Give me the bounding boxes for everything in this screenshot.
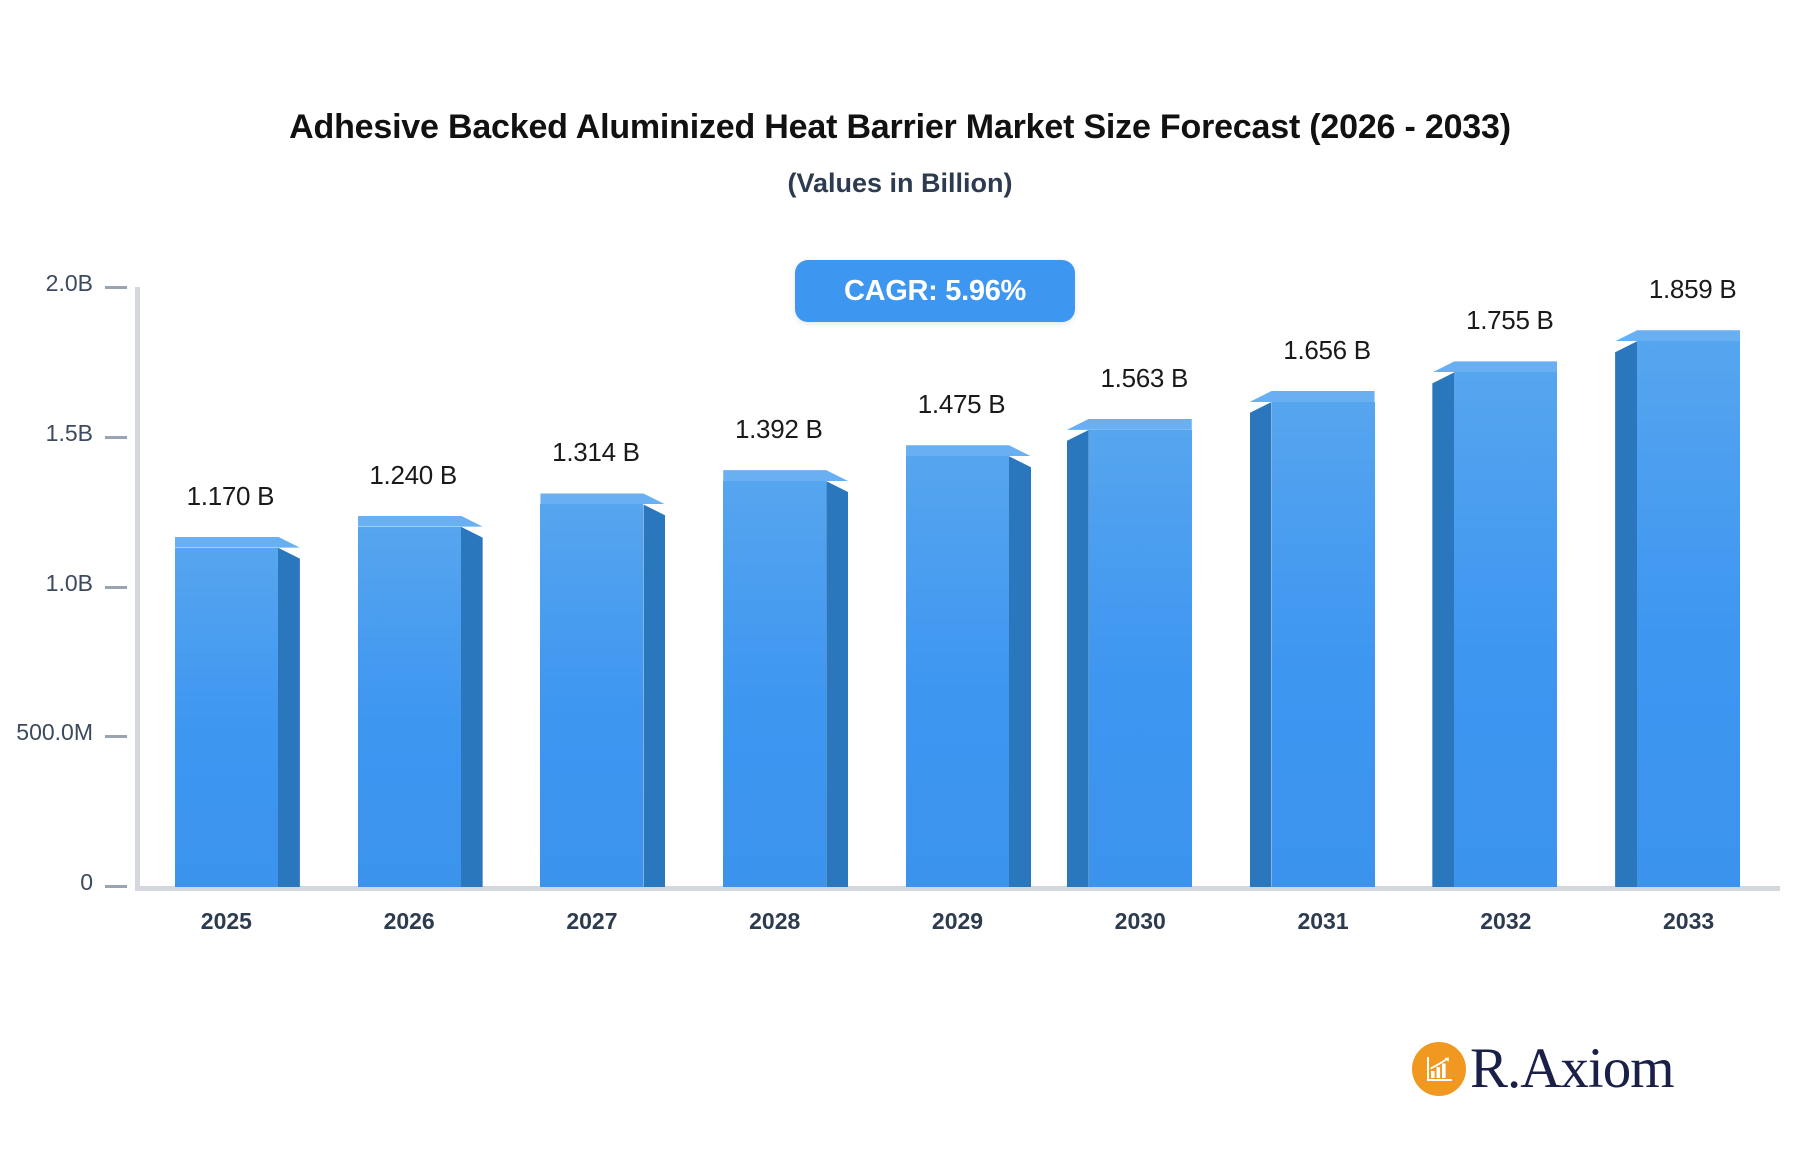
bar-front-face bbox=[1637, 341, 1740, 887]
y-axis-tick-mark bbox=[105, 286, 127, 289]
x-axis-tick-label: 2027 bbox=[502, 908, 682, 935]
bar-top-face bbox=[1067, 419, 1192, 430]
bar-side-face bbox=[1067, 430, 1089, 887]
bar-value-label: 1.755 B bbox=[1390, 305, 1630, 336]
bar-value-label: 1.475 B bbox=[842, 389, 1082, 420]
bar[interactable] bbox=[175, 537, 278, 887]
bar-front-face bbox=[175, 548, 278, 887]
bar-side-face bbox=[1250, 402, 1272, 887]
bar-side-face bbox=[643, 504, 665, 887]
bar-front-face bbox=[540, 504, 643, 887]
y-axis-tick-mark bbox=[105, 586, 127, 589]
chart-subtitle: (Values in Billion) bbox=[0, 168, 1800, 199]
bar[interactable] bbox=[1089, 419, 1192, 887]
bar[interactable] bbox=[1454, 361, 1557, 887]
bar-front-face bbox=[1089, 430, 1192, 887]
logo-text: R.Axiom bbox=[1470, 1040, 1674, 1097]
brand-logo: R.Axiom bbox=[1412, 1040, 1674, 1097]
y-axis-tick-label: 1.5B bbox=[46, 420, 93, 447]
bar-side-face bbox=[1009, 456, 1031, 887]
bar-top-face bbox=[723, 470, 848, 481]
x-axis-tick-label: 2026 bbox=[319, 908, 499, 935]
bar-top-face bbox=[358, 516, 483, 527]
bar-top-face bbox=[1250, 391, 1375, 402]
x-axis-tick-label: 2033 bbox=[1599, 908, 1779, 935]
y-axis-tick-mark bbox=[105, 735, 127, 738]
y-axis-tick-label: 1.0B bbox=[46, 570, 93, 597]
bar-front-face bbox=[1454, 372, 1557, 887]
bar-side-face bbox=[278, 548, 300, 887]
bar-side-face bbox=[1615, 341, 1637, 887]
bar[interactable] bbox=[1637, 330, 1740, 887]
x-axis-tick-label: 2031 bbox=[1233, 908, 1413, 935]
bar-chart-icon bbox=[1412, 1042, 1466, 1096]
bar[interactable] bbox=[1272, 391, 1375, 887]
bar-top-face bbox=[1432, 361, 1557, 372]
y-axis-tick-label: 2.0B bbox=[46, 270, 93, 297]
bar-side-face bbox=[1432, 372, 1454, 887]
bar-top-face bbox=[175, 537, 300, 548]
bar-front-face bbox=[358, 527, 461, 887]
bar-front-face bbox=[906, 456, 1009, 887]
y-axis-tick-label: 500.0M bbox=[16, 719, 93, 746]
bar-front-face bbox=[723, 481, 826, 887]
bar-value-label: 1.859 B bbox=[1573, 274, 1800, 305]
plot-area bbox=[135, 287, 1775, 887]
x-axis-tick-label: 2028 bbox=[685, 908, 865, 935]
bar-value-label: 1.656 B bbox=[1207, 335, 1447, 366]
bar-top-face bbox=[906, 445, 1031, 456]
x-axis-tick-label: 2030 bbox=[1050, 908, 1230, 935]
y-axis-tick-mark bbox=[105, 885, 127, 888]
bar[interactable] bbox=[540, 493, 643, 887]
bar-side-face bbox=[826, 481, 848, 887]
bar-side-face bbox=[461, 527, 483, 887]
bar-top-face bbox=[540, 493, 665, 504]
bar[interactable] bbox=[723, 470, 826, 887]
y-axis-tick-label: 0 bbox=[80, 869, 93, 896]
x-axis-tick-label: 2025 bbox=[136, 908, 316, 935]
page-title: Adhesive Backed Aluminized Heat Barrier … bbox=[0, 108, 1800, 147]
x-axis-tick-label: 2032 bbox=[1416, 908, 1596, 935]
bar-front-face bbox=[1272, 402, 1375, 887]
bar-value-label: 1.563 B bbox=[1024, 363, 1264, 394]
bar[interactable] bbox=[358, 516, 461, 887]
y-axis-tick-mark bbox=[105, 436, 127, 439]
bar[interactable] bbox=[906, 445, 1009, 887]
x-axis-tick-label: 2029 bbox=[868, 908, 1048, 935]
bar-top-face bbox=[1615, 330, 1740, 341]
